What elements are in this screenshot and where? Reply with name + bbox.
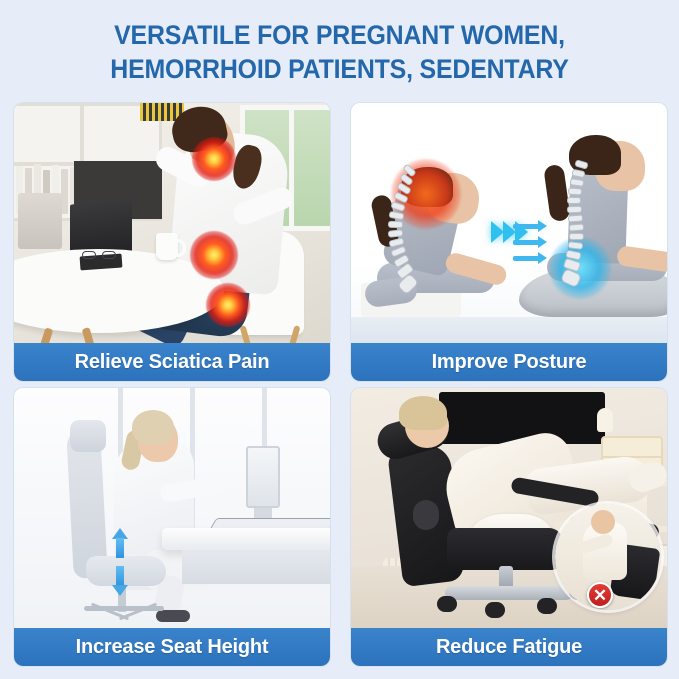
page-title-line-1: VERSATILE FOR PREGNANT WOMEN, [20, 18, 658, 52]
panel-caption: Increase Seat Height [14, 628, 330, 666]
panel-caption: Relieve Sciatica Pain [14, 343, 330, 381]
feature-panel-reduce-fatigue[interactable]: ✕ Reduce Fatigue [351, 388, 667, 666]
chair-seat [447, 528, 563, 570]
chair-caster [437, 596, 457, 612]
good-posture-spine [559, 159, 589, 283]
desktop-monitor [18, 193, 62, 249]
desk-surface [162, 528, 330, 550]
seat-lower-down-arrow [112, 566, 128, 596]
scene-improve-posture [351, 103, 667, 343]
scene-relieve-sciatica-pain [14, 103, 330, 343]
bad-posture-spine [383, 165, 417, 293]
wall-television [439, 392, 605, 444]
scene-reduce-fatigue: ✕ [351, 388, 667, 628]
coffee-mug [156, 233, 178, 260]
chair-lumbar-support [413, 500, 439, 530]
eyeglasses [82, 251, 118, 259]
feature-panel-improve-posture[interactable]: Improve Posture [351, 103, 667, 381]
figure-bad-posture [361, 103, 511, 317]
feature-panel-increase-seat-height[interactable]: Increase Seat Height [14, 388, 330, 666]
person-hair [399, 396, 447, 430]
neck-pain-hotspot [192, 137, 236, 181]
chair-headrest [70, 420, 106, 452]
table-lamp [597, 408, 613, 432]
page-title-line-2: HEMORRHOID PATIENTS, SEDENTARY [20, 52, 658, 86]
chair-star-base [445, 586, 573, 600]
desktop-monitor [246, 446, 280, 508]
tailbone-pain-hotspot [206, 283, 250, 327]
feature-grid: Relieve Sciatica Pain [14, 103, 667, 666]
incorrect-posture-inset: ✕ [555, 504, 661, 610]
person-shoe [156, 610, 190, 622]
feature-panel-relieve-sciatica-pain[interactable]: Relieve Sciatica Pain [14, 103, 330, 381]
panel-caption: Reduce Fatigue [351, 628, 667, 666]
figure-good-posture [521, 103, 667, 317]
panel-caption: Improve Posture [351, 343, 667, 381]
floor-shadow [351, 317, 667, 343]
seat-raise-up-arrow [112, 528, 128, 558]
page-title: VERSATILE FOR PREGNANT WOMEN, HEMORRHOID… [20, 18, 658, 86]
chair-caster [537, 598, 557, 614]
inset-person-head [591, 510, 615, 534]
desk-front-panel [182, 550, 330, 584]
scene-increase-seat-height [14, 388, 330, 628]
lower-back-pain-hotspot [190, 231, 238, 279]
chair-caster [485, 602, 505, 618]
cross-icon: ✕ [587, 582, 613, 608]
person-hair [132, 410, 174, 444]
